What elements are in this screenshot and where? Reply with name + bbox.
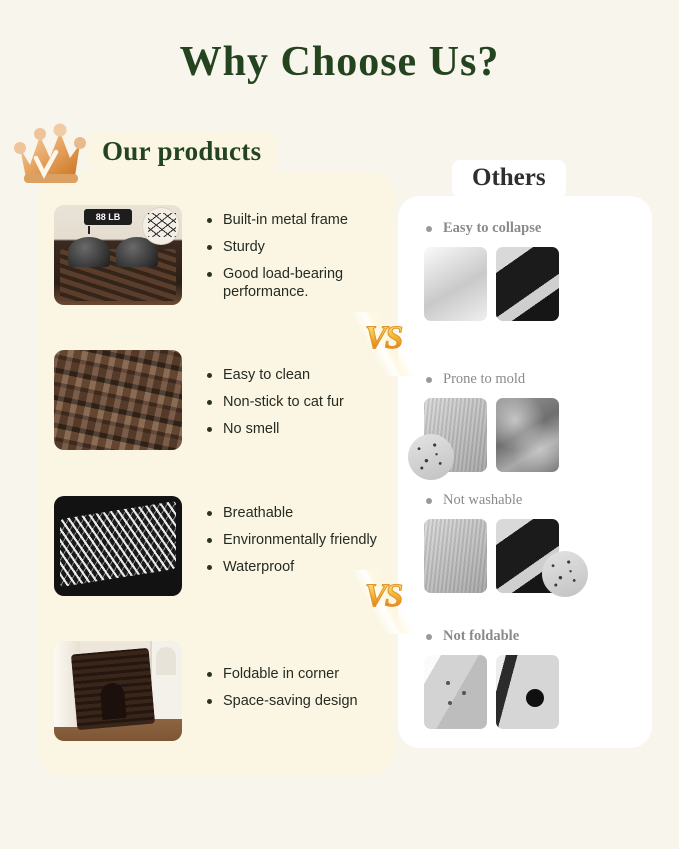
others-label: Not foldable xyxy=(424,628,644,645)
rigid-box-photo xyxy=(424,655,487,729)
list-item: No smell xyxy=(204,420,394,438)
our-product-bullets-4: Foldable in corner Space-saving design xyxy=(204,665,394,719)
folded-litter-box-corner-photo xyxy=(54,641,182,741)
list-item: Space-saving design xyxy=(204,692,394,710)
list-item: Built-in metal frame xyxy=(204,211,394,229)
vs-badge-1: VS xyxy=(352,312,414,376)
basket-load-capacity-photo: 88 LB xyxy=(54,205,182,305)
others-header: Others xyxy=(452,160,566,198)
infographic-page: Why Choose Us? Our products 88 LB xyxy=(0,0,679,849)
others-label: Easy to collapse xyxy=(424,220,644,237)
our-product-bullets-2: Easy to clean Non-stick to cat fur No sm… xyxy=(204,366,394,447)
list-item: Environmentally friendly xyxy=(204,531,394,549)
list-item: Non-stick to cat fur xyxy=(204,393,394,411)
vs-label: VS xyxy=(352,578,414,615)
our-product-row-2: Easy to clean Non-stick to cat fur No sm… xyxy=(54,350,394,455)
our-product-row-4: Foldable in corner Space-saving design xyxy=(54,641,394,746)
list-item: Breathable xyxy=(204,504,394,522)
others-row-1: Easy to collapse xyxy=(424,220,644,321)
list-item: Foldable in corner xyxy=(204,665,394,683)
breathable-mesh-panel-photo xyxy=(54,496,182,596)
mold-spores-closeup xyxy=(408,434,454,480)
others-row-4: Not foldable xyxy=(424,628,644,729)
our-product-bullets-1: Built-in metal frame Sturdy Good load-be… xyxy=(204,211,394,310)
load-capacity-badge: 88 LB xyxy=(84,209,132,225)
collapsed-light-box-photo xyxy=(424,247,487,321)
collapsed-dark-box-photo xyxy=(496,247,559,321)
our-products-header: Our products xyxy=(88,131,277,174)
others-row-2: Prone to mold xyxy=(424,371,644,472)
stained-fabric-photo xyxy=(424,519,487,593)
page-title: Why Choose Us? xyxy=(0,38,679,86)
others-row-3: Not washable xyxy=(424,492,644,593)
moldy-surface-photo xyxy=(496,398,559,472)
dirt-closeup xyxy=(542,551,588,597)
others-label: Not washable xyxy=(424,492,644,509)
vs-badge-2: VS xyxy=(352,570,414,634)
list-item: Good load-bearing performance. xyxy=(204,265,394,301)
list-item: Sturdy xyxy=(204,238,394,256)
rigid-open-box-photo xyxy=(496,655,559,729)
rattan-weave-closeup-photo xyxy=(54,350,182,450)
our-product-row-3: Breathable Environmentally friendly Wate… xyxy=(54,496,394,601)
others-label: Prone to mold xyxy=(424,371,644,388)
our-product-row-1: 88 LB Built-in metal frame Sturdy Good l… xyxy=(54,205,394,310)
crown-icon xyxy=(12,118,88,188)
vs-label: VS xyxy=(352,320,414,357)
